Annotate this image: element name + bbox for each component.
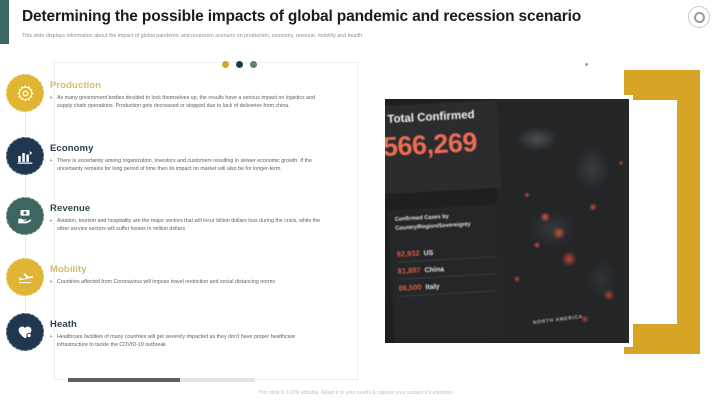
section-body-health: Heath ▸ Healthcare facilities of many co… bbox=[50, 313, 358, 350]
gear-icon bbox=[6, 74, 44, 112]
dot-navy bbox=[236, 61, 243, 68]
bullet-chevron-icon: ▸ bbox=[50, 94, 53, 102]
section-bullet-mobility: ▸ Countries affected from Coronavirus wi… bbox=[50, 278, 358, 286]
section-title-economy: Economy bbox=[50, 143, 358, 154]
section-text-production: As many government bodies decided to loc… bbox=[57, 94, 325, 111]
section-economy: Economy ▸ There is uncertainty among org… bbox=[6, 137, 358, 175]
section-mobility: Mobility ▸ Countries affected from Coron… bbox=[6, 258, 358, 296]
country-name: US bbox=[423, 250, 433, 258]
total-confirmed-panel: Total Confirmed 566,269 bbox=[385, 100, 501, 194]
section-text-health: Healthcare facilities of many countries … bbox=[57, 333, 325, 350]
page-title: Determining the possible impacts of glob… bbox=[22, 8, 662, 26]
circle-logo-inner bbox=[694, 12, 705, 23]
section-body-mobility: Mobility ▸ Countries affected from Coron… bbox=[50, 258, 358, 286]
country-name: China bbox=[424, 266, 444, 274]
money-hand-icon bbox=[6, 197, 44, 235]
section-title-mobility: Mobility bbox=[50, 264, 358, 275]
bullet-chevron-icon: ▸ bbox=[50, 217, 53, 225]
bullet-chevron-icon: ▸ bbox=[50, 278, 53, 286]
heart-care-icon bbox=[6, 313, 44, 351]
section-title-health: Heath bbox=[50, 319, 358, 330]
world-map-graphic bbox=[497, 99, 629, 343]
total-confirmed-label: Total Confirmed bbox=[387, 109, 475, 126]
confirmed-by-country-heading: Confirmed Cases by Country/Region/Sovere… bbox=[395, 210, 494, 233]
section-bullet-revenue: ▸ Aviation, tourism and hospitality are … bbox=[50, 217, 358, 234]
bullet-chevron-icon: ▸ bbox=[50, 157, 53, 165]
country-case-count: 92,932 bbox=[396, 248, 419, 258]
photo-inner: NORTH AMERICA Total Confirmed 566,269 Co… bbox=[385, 99, 629, 343]
section-title-revenue: Revenue bbox=[50, 203, 358, 214]
section-text-economy: There is uncertainty among organization,… bbox=[57, 157, 325, 174]
page-subtitle: This slide displays information about th… bbox=[22, 33, 622, 39]
dot-small-right bbox=[585, 63, 588, 66]
travel-ban-icon bbox=[6, 258, 44, 296]
dot-gold bbox=[222, 61, 229, 68]
section-title-production: Production bbox=[50, 80, 358, 91]
section-bullet-health: ▸ Healthcare facilities of many countrie… bbox=[50, 333, 358, 350]
dot-teal bbox=[250, 61, 257, 68]
section-bullet-production: ▸ As many government bodies decided to l… bbox=[50, 94, 358, 111]
section-bullet-economy: ▸ There is uncertainty among organizatio… bbox=[50, 157, 358, 174]
country-case-count: 81,897 bbox=[397, 265, 420, 275]
section-text-mobility: Countries affected from Coronavirus will… bbox=[57, 278, 325, 286]
progress-bar-track[interactable] bbox=[68, 378, 255, 382]
section-body-economy: Economy ▸ There is uncertainty among org… bbox=[50, 137, 358, 174]
slide-root: Determining the possible impacts of glob… bbox=[0, 0, 720, 404]
left-accent-bar bbox=[0, 0, 9, 44]
covid-dashboard-photo: NORTH AMERICA Total Confirmed 566,269 Co… bbox=[382, 96, 632, 346]
circle-logo-icon bbox=[688, 6, 710, 28]
section-production: Production ▸ As many government bodies d… bbox=[6, 74, 358, 112]
bullet-chevron-icon: ▸ bbox=[50, 333, 53, 341]
total-confirmed-value: 566,269 bbox=[385, 127, 478, 163]
section-revenue: Revenue ▸ Aviation, tourism and hospital… bbox=[6, 197, 358, 235]
section-text-revenue: Aviation, tourism and hospitality are th… bbox=[57, 217, 325, 234]
section-body-production: Production ▸ As many government bodies d… bbox=[50, 74, 358, 111]
bank-chart-icon bbox=[6, 137, 44, 175]
country-name: Italy bbox=[425, 283, 439, 291]
confirmed-by-country-panel: Confirmed Cases by Country/Region/Sovere… bbox=[387, 204, 507, 343]
footer-note: This slide is 100% editable. Adapt it to… bbox=[258, 390, 454, 396]
progress-bar-fill bbox=[68, 378, 180, 382]
country-case-count: 86,500 bbox=[398, 282, 421, 292]
section-health: Heath ▸ Healthcare facilities of many co… bbox=[6, 313, 358, 351]
dots-row bbox=[222, 61, 257, 68]
section-body-revenue: Revenue ▸ Aviation, tourism and hospital… bbox=[50, 197, 358, 234]
